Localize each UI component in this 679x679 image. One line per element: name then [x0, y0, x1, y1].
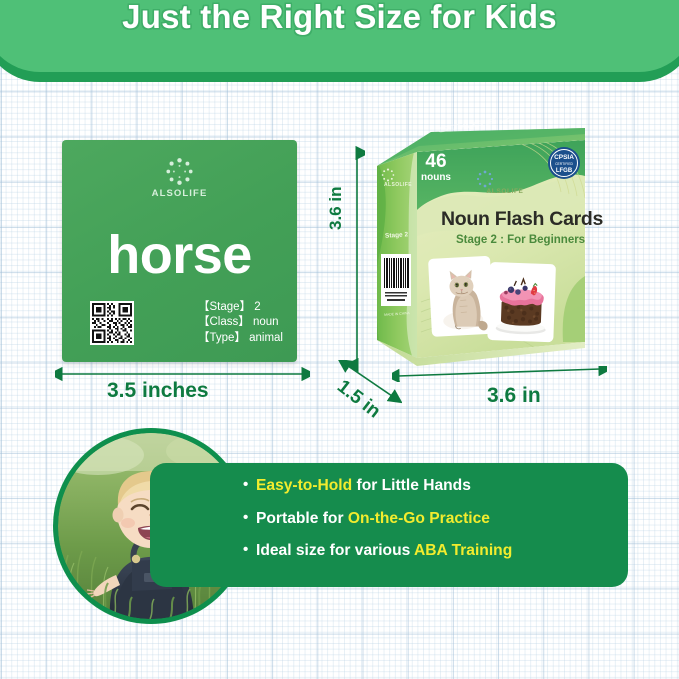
alsolife-dot-ring-logo-icon	[165, 157, 194, 186]
card-brand-label: ALSOLIFE	[62, 188, 297, 199]
page-title: Just the Right Size for Kids	[0, 0, 679, 36]
benefit-post-text: for Little Hands	[352, 477, 471, 494]
header-banner: Just the Right Size for Kids	[0, 0, 679, 82]
benefit-pre-text: Portable for	[256, 510, 348, 527]
box-product-title: Noun Flash Cards	[441, 208, 593, 231]
cpsia-certified-badge-icon: CPSIA CERTIFIED LFGB	[547, 146, 581, 180]
card-attribute-value: 2	[254, 301, 260, 313]
card-word: horse	[62, 224, 297, 286]
card-attribute-key: 【Type】	[198, 332, 246, 344]
benefit-item: Ideal size for various ABA Training	[256, 543, 628, 559]
box-count-badge: 46 nouns	[421, 152, 451, 183]
alsolife-dot-ring-logo-icon	[381, 168, 395, 182]
benefit-item: Portable for On-the-Go Practice	[256, 511, 628, 527]
infographic-page: Just the Right Size for Kids	[0, 0, 679, 679]
box-side-brand-block: ALSOLIFE	[381, 168, 415, 188]
box-width-label: 3.6 in	[487, 384, 541, 408]
box-side-brand-label: ALSOLIFE	[381, 182, 415, 188]
benefit-highlight-text: ABA Training	[414, 542, 512, 559]
svg-text:LFGB: LFGB	[556, 168, 573, 174]
box-width-arrow-icon	[392, 366, 607, 382]
flash-card: ALSOLIFE horse	[62, 140, 297, 362]
card-attribute-row: 【Stage】 2	[198, 300, 283, 316]
barcode-icon	[381, 254, 411, 306]
card-attribute-key: 【Class】	[198, 316, 250, 328]
box-height-label: 3.6 in	[326, 187, 346, 230]
card-attribute-value: animal	[249, 332, 283, 344]
benefits-list: Easy-to-Hold for Little Hands Portable f…	[150, 463, 628, 559]
card-width-label: 3.5 inches	[107, 379, 209, 403]
product-box: STAGE 2 46 nouns ALSOLIFE Noun Flash Car…	[371, 126, 589, 366]
card-attribute-key: 【Stage】	[198, 301, 251, 313]
benefits-panel: Easy-to-Hold for Little Hands Portable f…	[150, 463, 628, 587]
benefit-highlight-text: Easy-to-Hold	[256, 477, 352, 494]
card-attributes: 【Stage】 2 【Class】 noun 【Type】 animal	[198, 300, 283, 347]
benefit-highlight-text: On-the-Go Practice	[348, 510, 490, 527]
card-attribute-row: 【Class】 noun	[198, 315, 283, 331]
benefit-item: Easy-to-Hold for Little Hands	[256, 478, 628, 494]
card-attribute-row: 【Type】 animal	[198, 331, 283, 347]
box-count-unit: nouns	[421, 173, 451, 183]
alsolife-dot-ring-logo-icon	[476, 170, 494, 188]
benefit-pre-text: Ideal size for various	[256, 542, 414, 559]
card-brand-block: ALSOLIFE	[62, 157, 297, 199]
qr-code-icon	[90, 301, 134, 345]
box-brand-block: ALSOLIFE	[476, 170, 534, 195]
card-attribute-value: noun	[253, 316, 279, 328]
svg-text:CPSIA: CPSIA	[554, 154, 574, 161]
box-brand-label: ALSOLIFE	[476, 188, 534, 195]
box-product-subtitle: Stage 2 : For Beginners	[456, 234, 596, 246]
box-count-number: 46	[421, 152, 451, 171]
box-height-arrow-icon	[349, 146, 365, 372]
svg-text:CERTIFIED: CERTIFIED	[555, 162, 573, 166]
